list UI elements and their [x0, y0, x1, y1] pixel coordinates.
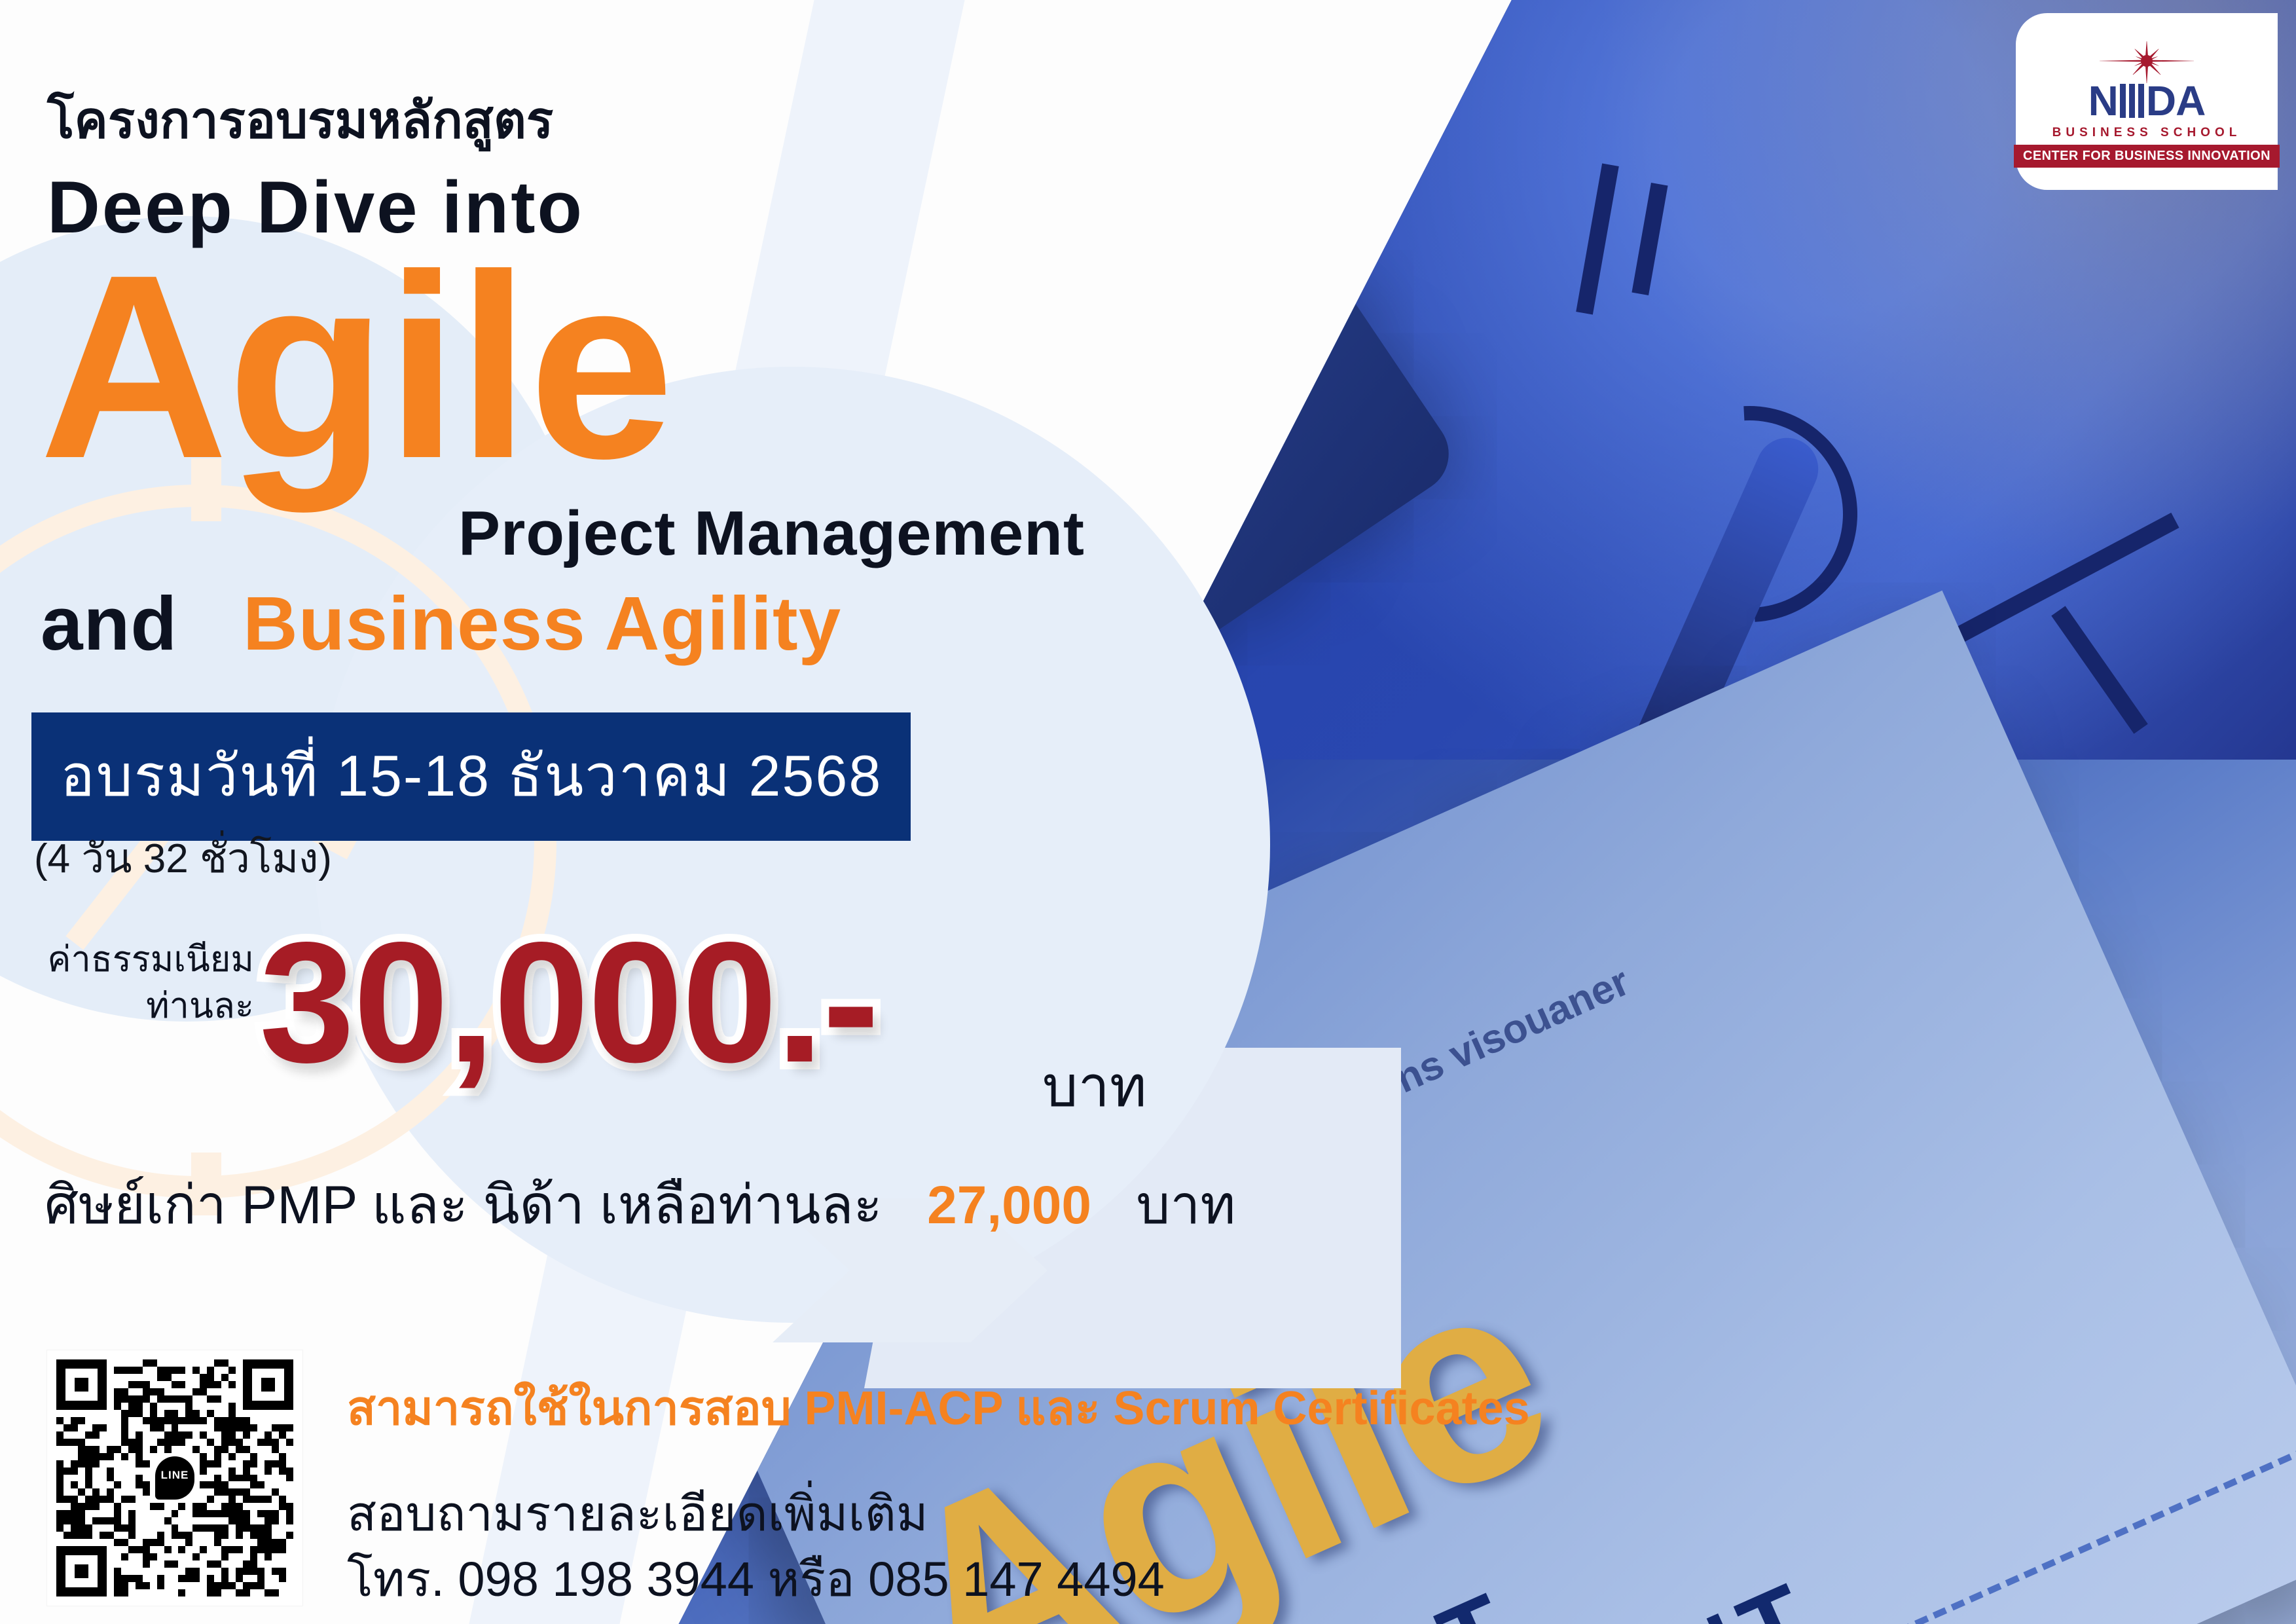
nida-center-tagline: CENTER FOR BUSINESS INNOVATION: [2014, 145, 2280, 168]
poster-content: โครงการอบรมหลักสูตร Deep Dive into Agile…: [0, 0, 2296, 1624]
nida-letter-n: N: [2088, 80, 2118, 122]
fee-label-line2: ท่านละ: [146, 986, 254, 1025]
fee-currency: บาท: [1042, 1041, 1147, 1131]
nida-bars-icon: [2120, 84, 2144, 118]
qr-finder-pattern: [243, 1359, 293, 1410]
line-logo-text: LINE: [155, 1456, 194, 1500]
title-and-word: and: [41, 581, 177, 666]
alumni-prefix: ศิษย์เก่า PMP และ นิด้า เหลือท่านละ: [45, 1175, 883, 1235]
fee-amount: 30,000.-: [259, 917, 878, 1088]
qr-finder-pattern: [56, 1359, 107, 1410]
title-business-agility: and Business Agility: [41, 580, 841, 667]
alumni-discount-line: ศิษย์เก่า PMP และ นิด้า เหลือท่านละ 27,0…: [45, 1162, 1235, 1247]
starburst-ray: [2100, 60, 2147, 62]
duration-text: (4 วัน 32 ชั่วโมง): [34, 826, 332, 891]
line-logo-icon: LINE: [147, 1445, 203, 1511]
line-qr-code[interactable]: LINE: [47, 1350, 302, 1606]
starburst-core: [2141, 55, 2153, 67]
title-agile: Agile: [39, 236, 673, 498]
poster-canvas: BACHELOR Conslopine plandrom notions vis…: [0, 0, 2296, 1624]
nida-logo: N DA BUSINESS SCHOOL CENTER FOR BUSINESS…: [2016, 13, 2278, 190]
nida-letters-da: DA: [2146, 80, 2205, 122]
fee-label-line1: ค่าธรรมเนียม: [47, 940, 254, 979]
nida-business-school: BUSINESS SCHOOL: [2052, 126, 2242, 140]
alumni-price: 27,000: [927, 1175, 1091, 1235]
alumni-currency: บาท: [1136, 1175, 1235, 1235]
starburst-ray: [2147, 60, 2194, 62]
date-banner: อบรมวันที่ 15-18 ธันวาคม 2568: [31, 712, 911, 841]
kicker-text: โครงการอบรมหลักสูตร: [47, 80, 553, 160]
qr-canvas: LINE: [56, 1359, 293, 1596]
title-business-agility-accent: Business Agility: [243, 581, 841, 666]
certification-note: สามารถใช้ในการสอบ PMI-ACP และ Scrum Cert…: [347, 1370, 1530, 1445]
starburst-icon: [2098, 39, 2196, 83]
qr-finder-pattern: [56, 1546, 107, 1596]
contact-phone-numbers: โทร. 098 198 3944 หรือ 085 147 4494: [347, 1540, 1165, 1617]
nida-wordmark: N DA: [2088, 80, 2206, 122]
title-project-management: Project Management: [458, 498, 1085, 570]
fee-label: ค่าธรรมเนียม ท่านละ: [45, 936, 254, 1030]
